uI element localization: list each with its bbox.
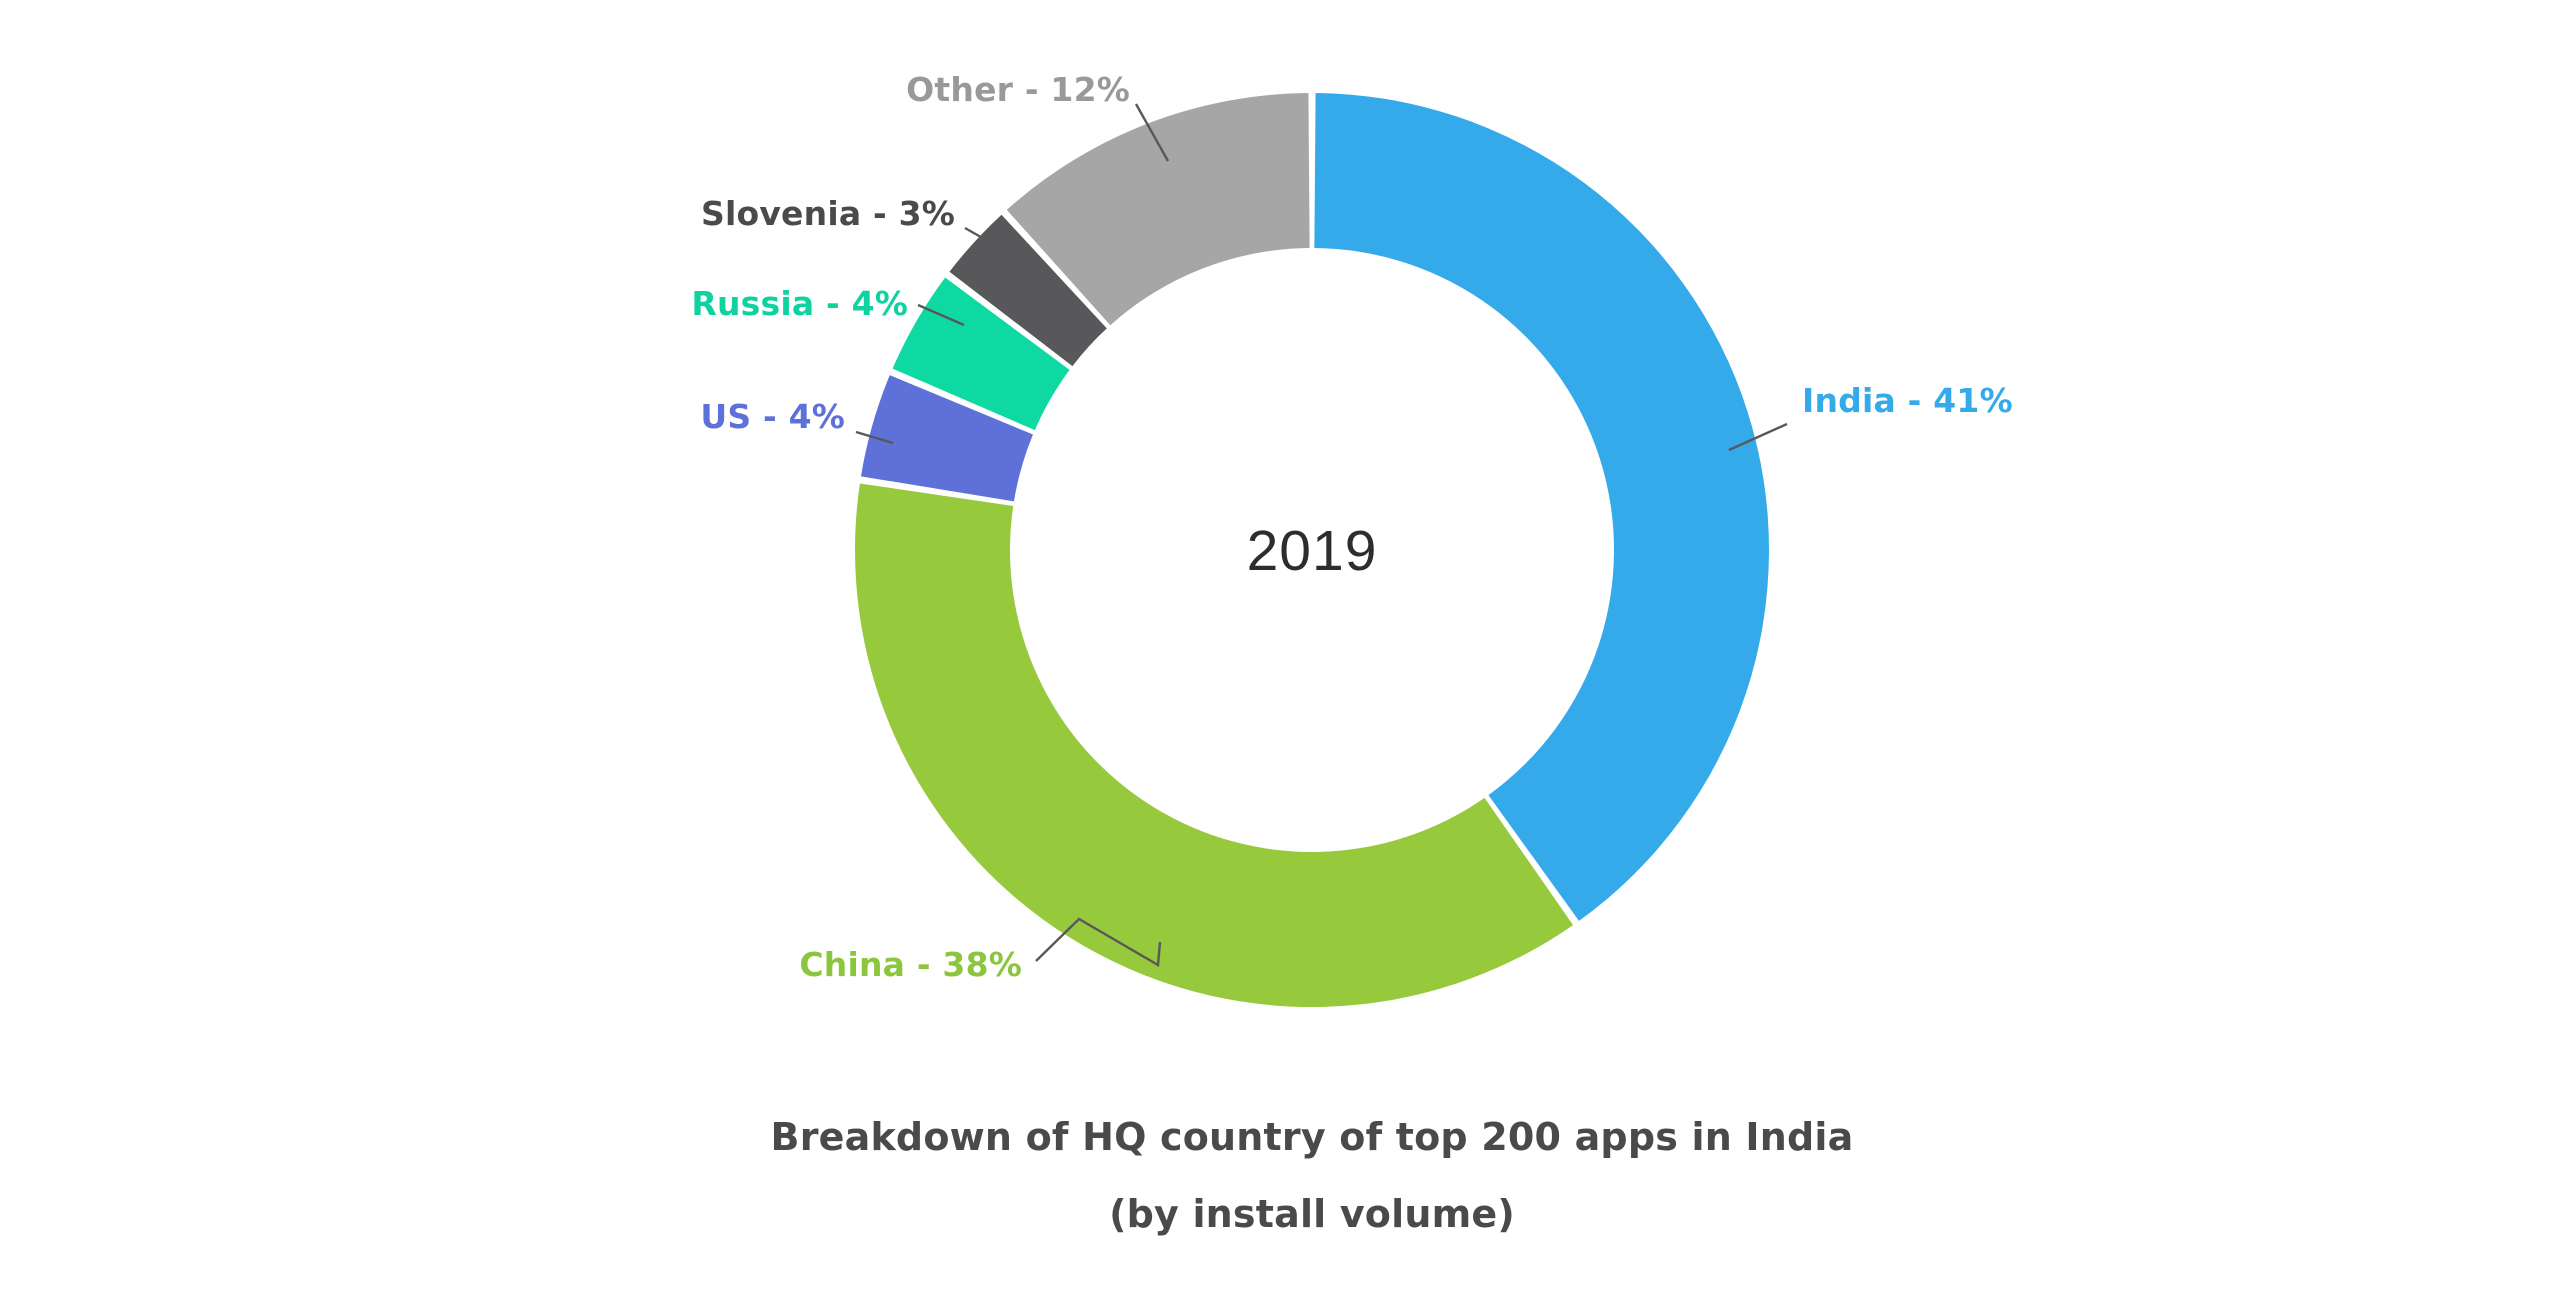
chart-title-line2: (by install volume) <box>1109 1192 1515 1236</box>
slice-label-russia: Russia - 4% <box>691 284 908 323</box>
slice-label-china: China - 38% <box>799 945 1022 984</box>
donut-slice-india[interactable] <box>1314 93 1769 921</box>
donut-center-label: 2019 <box>1247 519 1378 583</box>
slice-label-slovenia: Slovenia - 3% <box>701 194 955 233</box>
donut-slice-china[interactable] <box>855 483 1573 1007</box>
slice-label-india: India - 41% <box>1802 381 2013 420</box>
slice-label-other: Other - 12% <box>906 70 1130 109</box>
slice-label-us: US - 4% <box>700 397 845 436</box>
donut-chart: India - 41% China - 38% US - 4% Russia -… <box>0 0 2558 1314</box>
chart-canvas: India - 41% China - 38% US - 4% Russia -… <box>0 0 2558 1314</box>
chart-title-line1: Breakdown of HQ country of top 200 apps … <box>771 1115 1854 1159</box>
